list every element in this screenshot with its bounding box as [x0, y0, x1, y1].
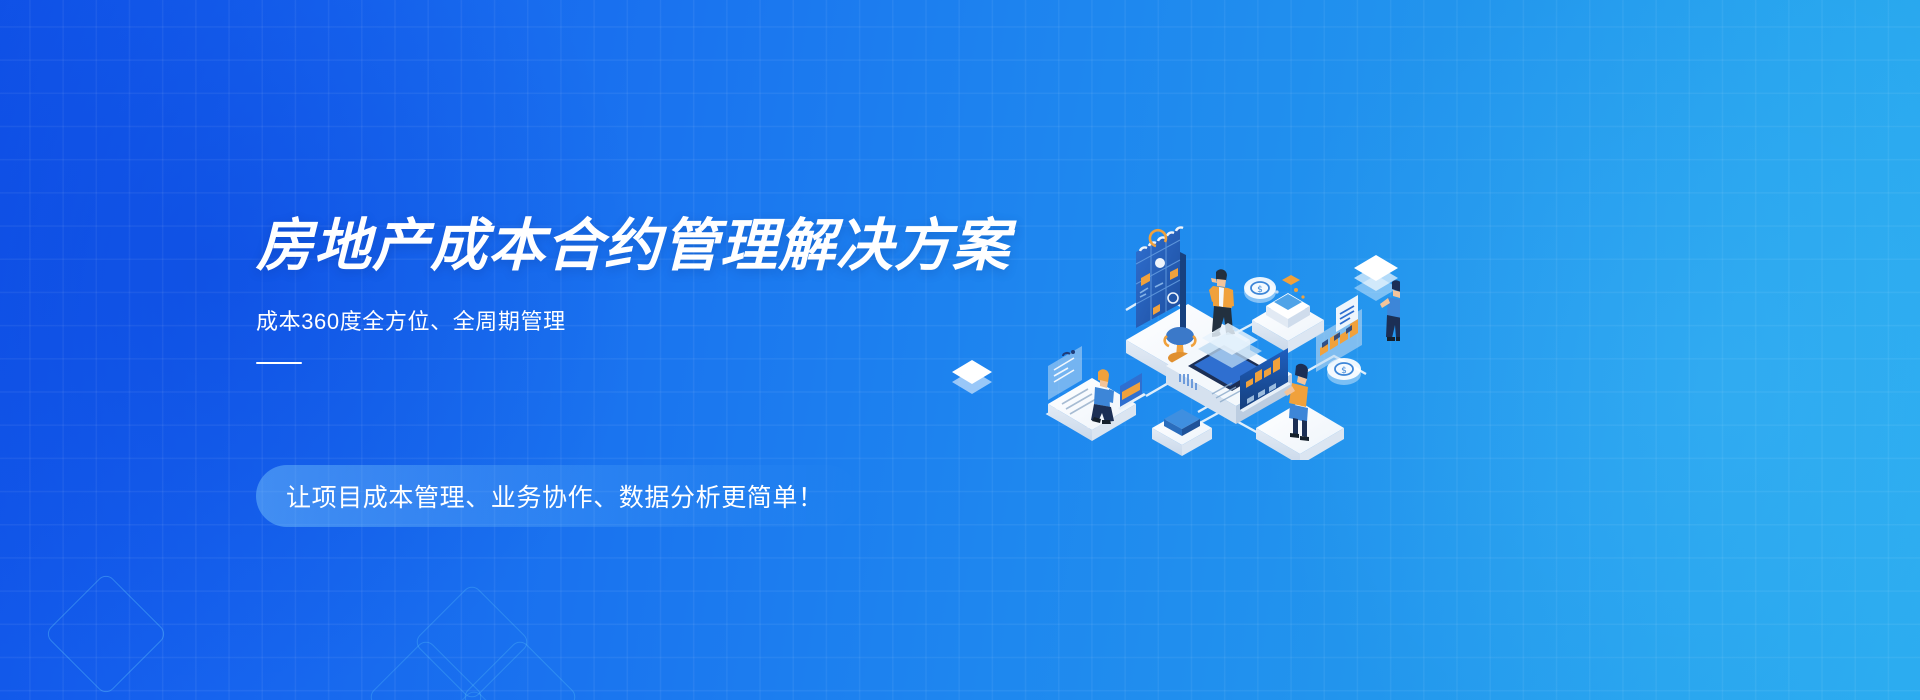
svg-text:$: $ — [1341, 366, 1347, 376]
dollar-coin-top: $ — [1244, 277, 1276, 303]
hero-copy-block: 房地产成本合约管理解决方案 成本360度全方位、全周期管理 — [256, 216, 1016, 364]
hero-subtitle: 成本360度全方位、全周期管理 — [256, 304, 1016, 336]
stacked-sheets-left — [952, 360, 992, 394]
tagline-pill: 让项目成本管理、业务协作、数据分析更简单！ — [256, 465, 858, 527]
tagline-text: 让项目成本管理、业务协作、数据分析更简单！ — [286, 478, 824, 514]
stacked-sheets-right — [1354, 255, 1398, 301]
cube-platform-bottom — [1152, 409, 1212, 456]
diamond-decor-1 — [44, 572, 168, 696]
diamond-decor-4 — [367, 638, 486, 700]
diamond-decor-2 — [413, 583, 532, 700]
isometric-illustration: $ $ $ — [930, 160, 1400, 460]
title-divider — [256, 362, 302, 365]
diamond-decor-3 — [461, 638, 580, 700]
hero-banner: 房地产成本合约管理解决方案 成本360度全方位、全周期管理 让项目成本管理、业务… — [0, 0, 1920, 700]
diamond-decor-5 — [415, 688, 534, 700]
svg-text:$: $ — [1257, 285, 1263, 295]
page-title: 房地产成本合约管理解决方案 — [256, 216, 1016, 278]
